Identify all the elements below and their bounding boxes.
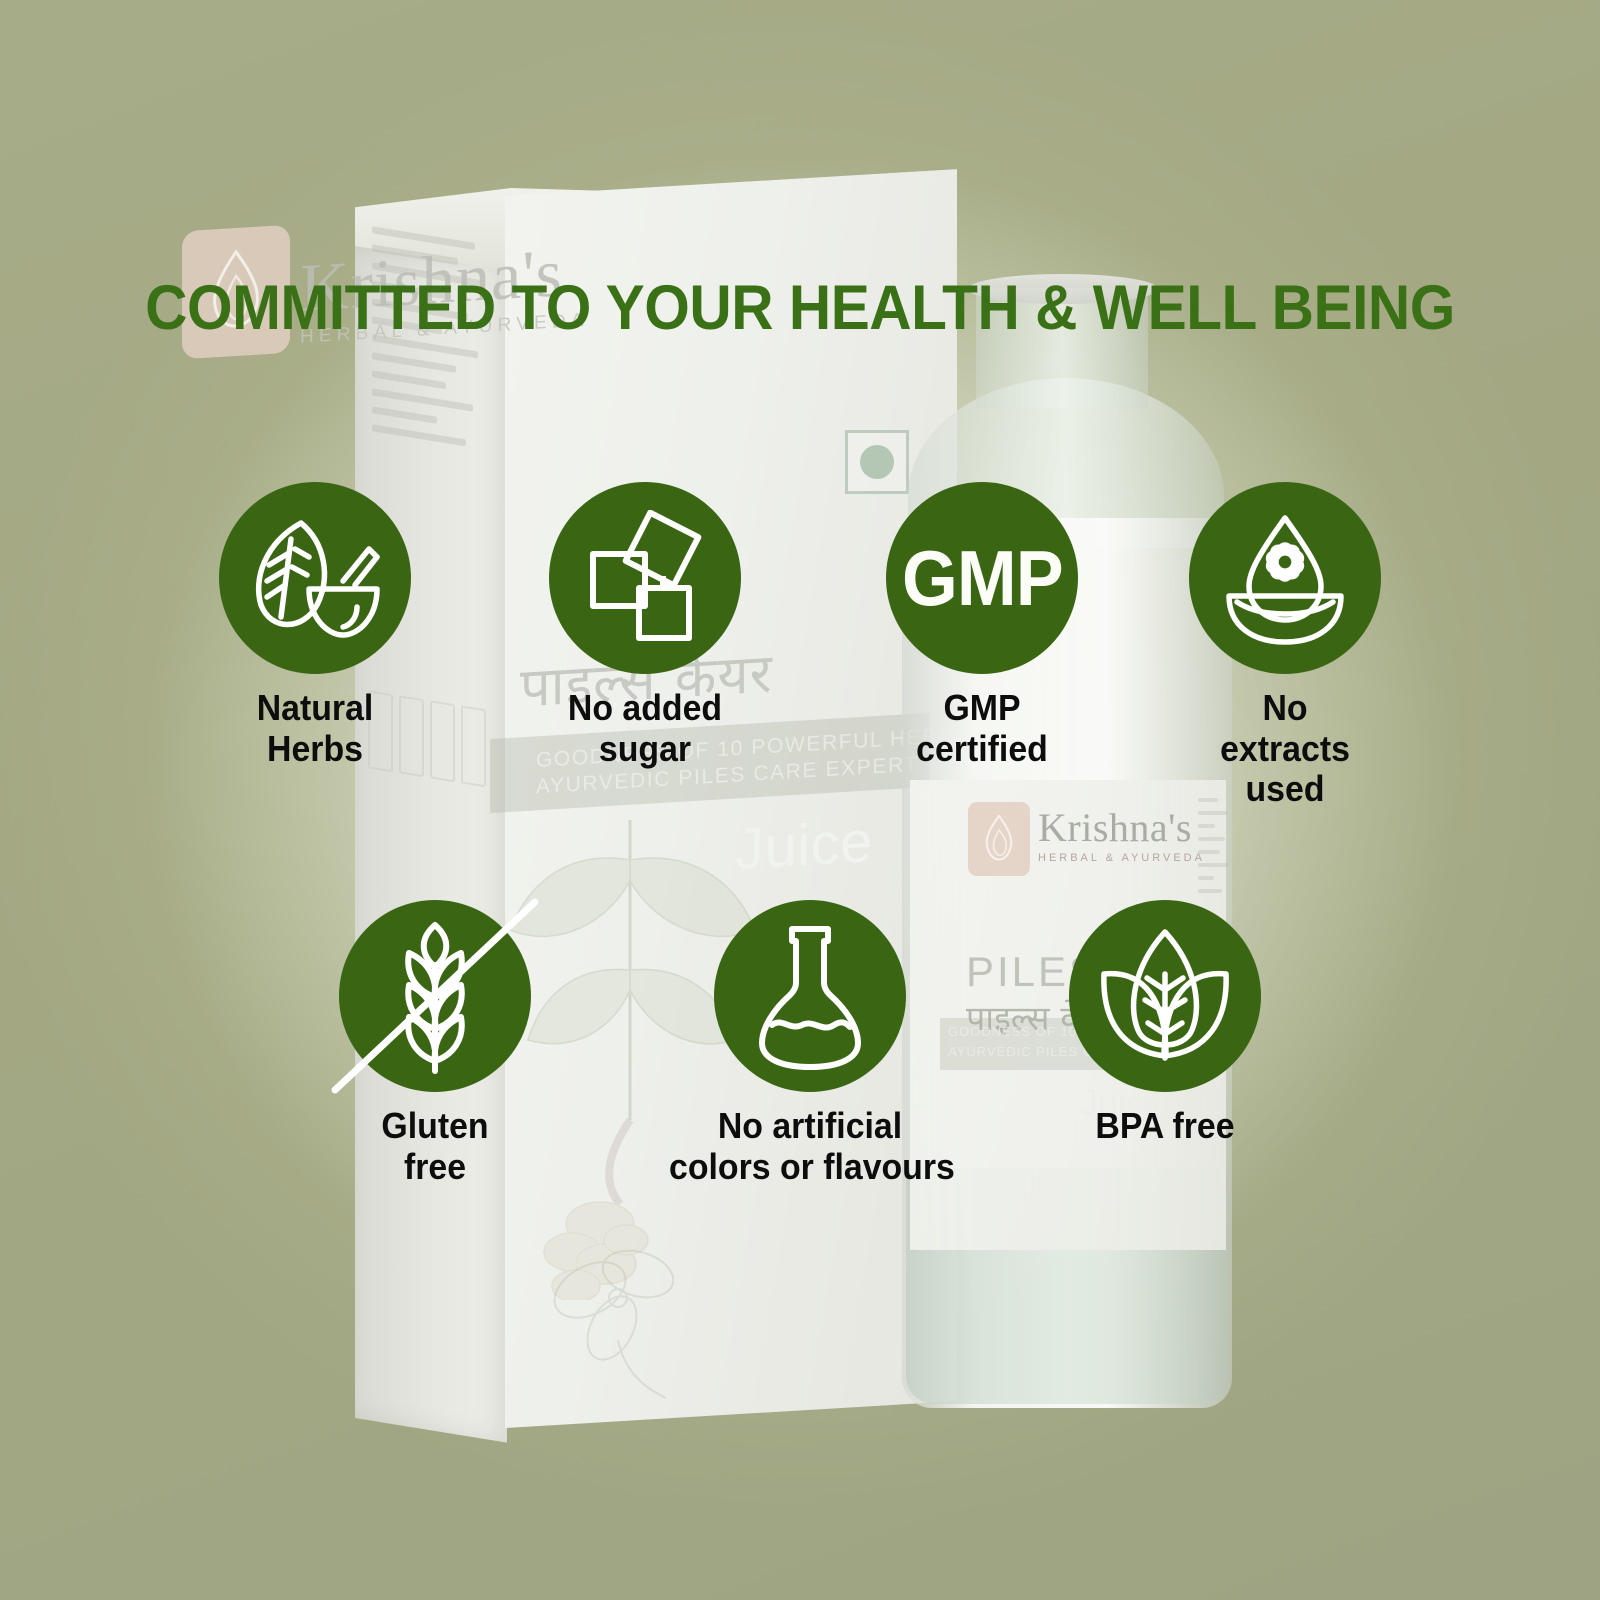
badge-caption: No artificial colors or flavours xyxy=(669,1106,951,1187)
badge-caption-line2: free xyxy=(294,1147,576,1188)
badge-circle xyxy=(339,900,531,1092)
leaf-mortar-pestle-icon xyxy=(245,513,385,643)
bottle-leaf-logo-icon xyxy=(976,812,1022,868)
badge-circle xyxy=(549,482,741,674)
wheat-slashed-icon xyxy=(375,921,495,1081)
badge-circle: GMP xyxy=(886,482,1078,674)
badge-caption-line2: extracts xyxy=(1144,729,1426,770)
badge-caption: Natural Herbs xyxy=(174,688,456,769)
badge-caption-line1: No added xyxy=(504,688,786,729)
gmp-text-icon: GMP xyxy=(902,533,1063,624)
badge-caption-line1: No xyxy=(1144,688,1426,729)
badge-circle xyxy=(1189,482,1381,674)
page-title: COMMITTED TO YOUR HEALTH & WELL BEING xyxy=(56,272,1544,344)
bottle-brand-lockup: Krishna's HERBAL & AYURVEDA xyxy=(1038,808,1205,864)
badge-caption-line1: BPA free xyxy=(1024,1106,1306,1147)
botanical-flower-illustration-4 xyxy=(520,1210,740,1410)
badge-caption: Gluten free xyxy=(294,1106,576,1187)
three-leaves-icon xyxy=(1090,926,1240,1066)
badge-caption-line2: Herbs xyxy=(174,729,456,770)
badge-caption-line1: GMP xyxy=(841,688,1123,729)
infographic-canvas: Krishna's HERBAL & AYURVEDA पाइल्स केयर … xyxy=(0,0,1600,1600)
badge-caption-line3: used xyxy=(1144,769,1426,810)
badge-caption-line2: colors or flavours xyxy=(669,1147,951,1188)
badge-caption: GMP certified xyxy=(841,688,1123,769)
badge-caption-line2: sugar xyxy=(504,729,786,770)
badge-caption: BPA free xyxy=(1024,1106,1306,1147)
flask-icon xyxy=(750,921,870,1071)
badge-natural-herbs[interactable]: Natural Herbs xyxy=(165,482,465,769)
badge-circle xyxy=(219,482,411,674)
badge-circle xyxy=(714,900,906,1092)
badge-gluten-free[interactable]: Gluten free xyxy=(285,900,585,1187)
badge-bpa-free[interactable]: BPA free xyxy=(1015,900,1315,1147)
sugar-cubes-icon xyxy=(577,510,713,646)
badge-circle xyxy=(1069,900,1261,1092)
badge-caption-line1: No artificial xyxy=(669,1106,951,1147)
badge-caption: No extracts used xyxy=(1144,688,1426,810)
bottle-brand-tagline: HERBAL & AYURVEDA xyxy=(1038,852,1205,864)
badge-no-artificial-colors[interactable]: No artificial colors or flavours xyxy=(660,900,960,1187)
badge-no-extracts-used[interactable]: No extracts used xyxy=(1135,482,1435,810)
badge-gmp-certified[interactable]: GMP GMP certified xyxy=(832,482,1132,769)
badge-no-added-sugar[interactable]: No added sugar xyxy=(495,482,795,769)
badge-caption-line2: certified xyxy=(841,729,1123,770)
badge-caption-line1: Gluten xyxy=(294,1106,576,1147)
bottle-brand-name: Krishna's xyxy=(1038,808,1205,848)
badge-caption-line1: Natural xyxy=(174,688,456,729)
badge-caption: No added sugar xyxy=(504,688,786,769)
droplet-flower-bowl-icon xyxy=(1215,510,1355,646)
